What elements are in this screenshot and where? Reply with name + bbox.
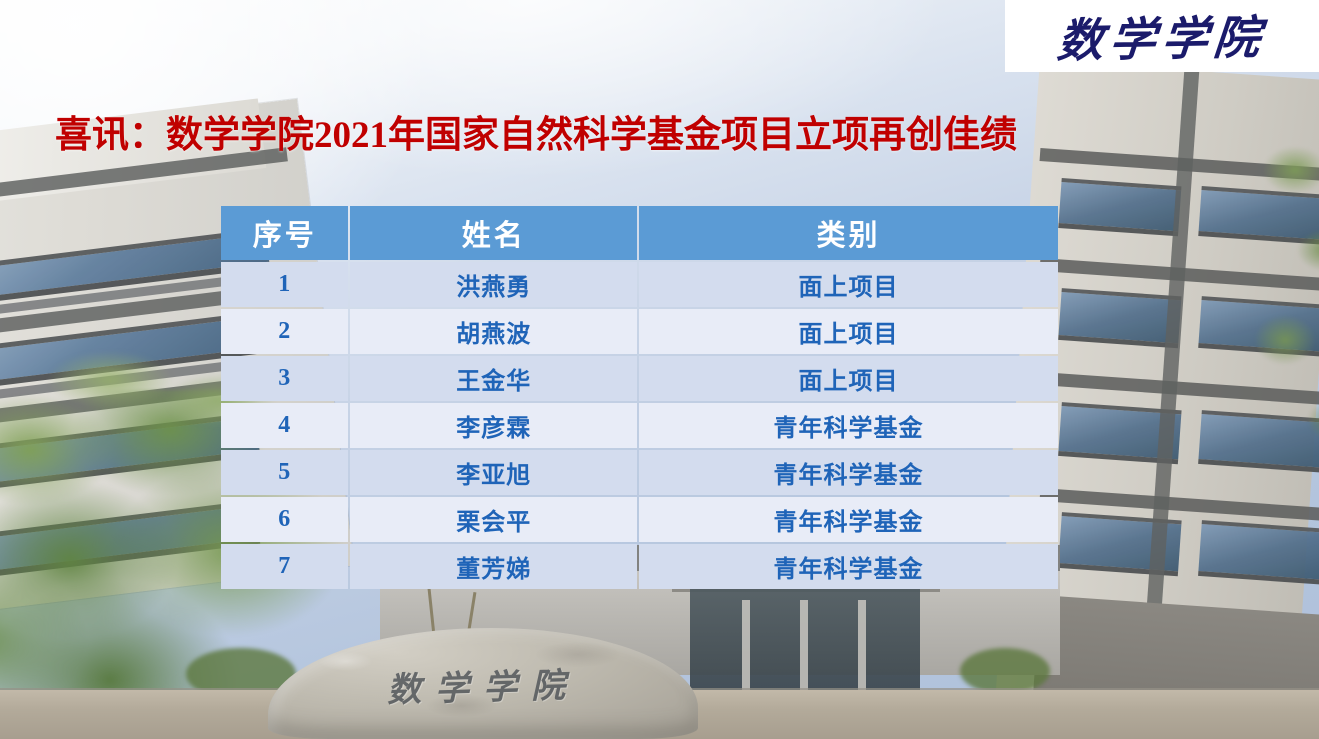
cell-name: 董芳娣 [350, 544, 637, 589]
table-row: 6栗会平青年科学基金 [221, 497, 1058, 542]
table-header-row: 序号 姓名 类别 [221, 206, 1058, 260]
cell-name: 栗会平 [350, 497, 637, 542]
cell-category: 青年科学基金 [639, 497, 1058, 542]
column-header-name: 姓名 [350, 206, 637, 260]
table-body: 1洪燕勇面上项目2胡燕波面上项目3王金华面上项目4李彦霖青年科学基金5李亚旭青年… [221, 262, 1058, 589]
cell-category: 面上项目 [639, 309, 1058, 354]
table-row: 1洪燕勇面上项目 [221, 262, 1058, 307]
column-header-no: 序号 [221, 206, 348, 260]
table-row: 5李亚旭青年科学基金 [221, 450, 1058, 495]
right-building-window-8 [1198, 520, 1319, 585]
cell-no: 1 [221, 262, 348, 307]
right-tree-foliage [1245, 130, 1319, 460]
entrance-mullion-1 [742, 600, 750, 692]
logo-text: 数学学院 [1055, 1, 1269, 71]
logo-box: 数学学院 [1005, 0, 1319, 72]
table-row: 7董芳娣青年科学基金 [221, 544, 1058, 589]
cell-name: 李亚旭 [350, 450, 637, 495]
cell-category: 面上项目 [639, 262, 1058, 307]
cell-no: 7 [221, 544, 348, 589]
entrance-mullion-2 [800, 600, 808, 692]
table-head: 序号 姓名 类别 [221, 206, 1058, 260]
cell-name: 胡燕波 [350, 309, 637, 354]
cell-no: 6 [221, 497, 348, 542]
cell-no: 4 [221, 403, 348, 448]
cell-no: 3 [221, 356, 348, 401]
cell-name: 李彦霖 [350, 403, 637, 448]
award-table-container: 序号 姓名 类别 1洪燕勇面上项目2胡燕波面上项目3王金华面上项目4李彦霖青年科… [219, 204, 1060, 591]
right-building-window-1 [1058, 178, 1181, 236]
cell-category: 面上项目 [639, 356, 1058, 401]
page-title: 喜讯：数学学院2021年国家自然科学基金项目立项再创佳绩 [55, 104, 1017, 158]
cell-name: 洪燕勇 [350, 262, 637, 307]
cell-category: 青年科学基金 [639, 450, 1058, 495]
column-header-cat: 类别 [639, 206, 1058, 260]
table-row: 2胡燕波面上项目 [221, 309, 1058, 354]
cell-category: 青年科学基金 [639, 403, 1058, 448]
entrance-mullion-3 [858, 600, 866, 692]
table-row: 4李彦霖青年科学基金 [221, 403, 1058, 448]
cell-category: 青年科学基金 [639, 544, 1058, 589]
table-row: 3王金华面上项目 [221, 356, 1058, 401]
right-building-window-3 [1058, 288, 1181, 348]
cell-no: 2 [221, 309, 348, 354]
award-table: 序号 姓名 类别 1洪燕勇面上项目2胡燕波面上项目3王金华面上项目4李彦霖青年科… [219, 204, 1060, 591]
cell-name: 王金华 [350, 356, 637, 401]
cell-no: 5 [221, 450, 348, 495]
